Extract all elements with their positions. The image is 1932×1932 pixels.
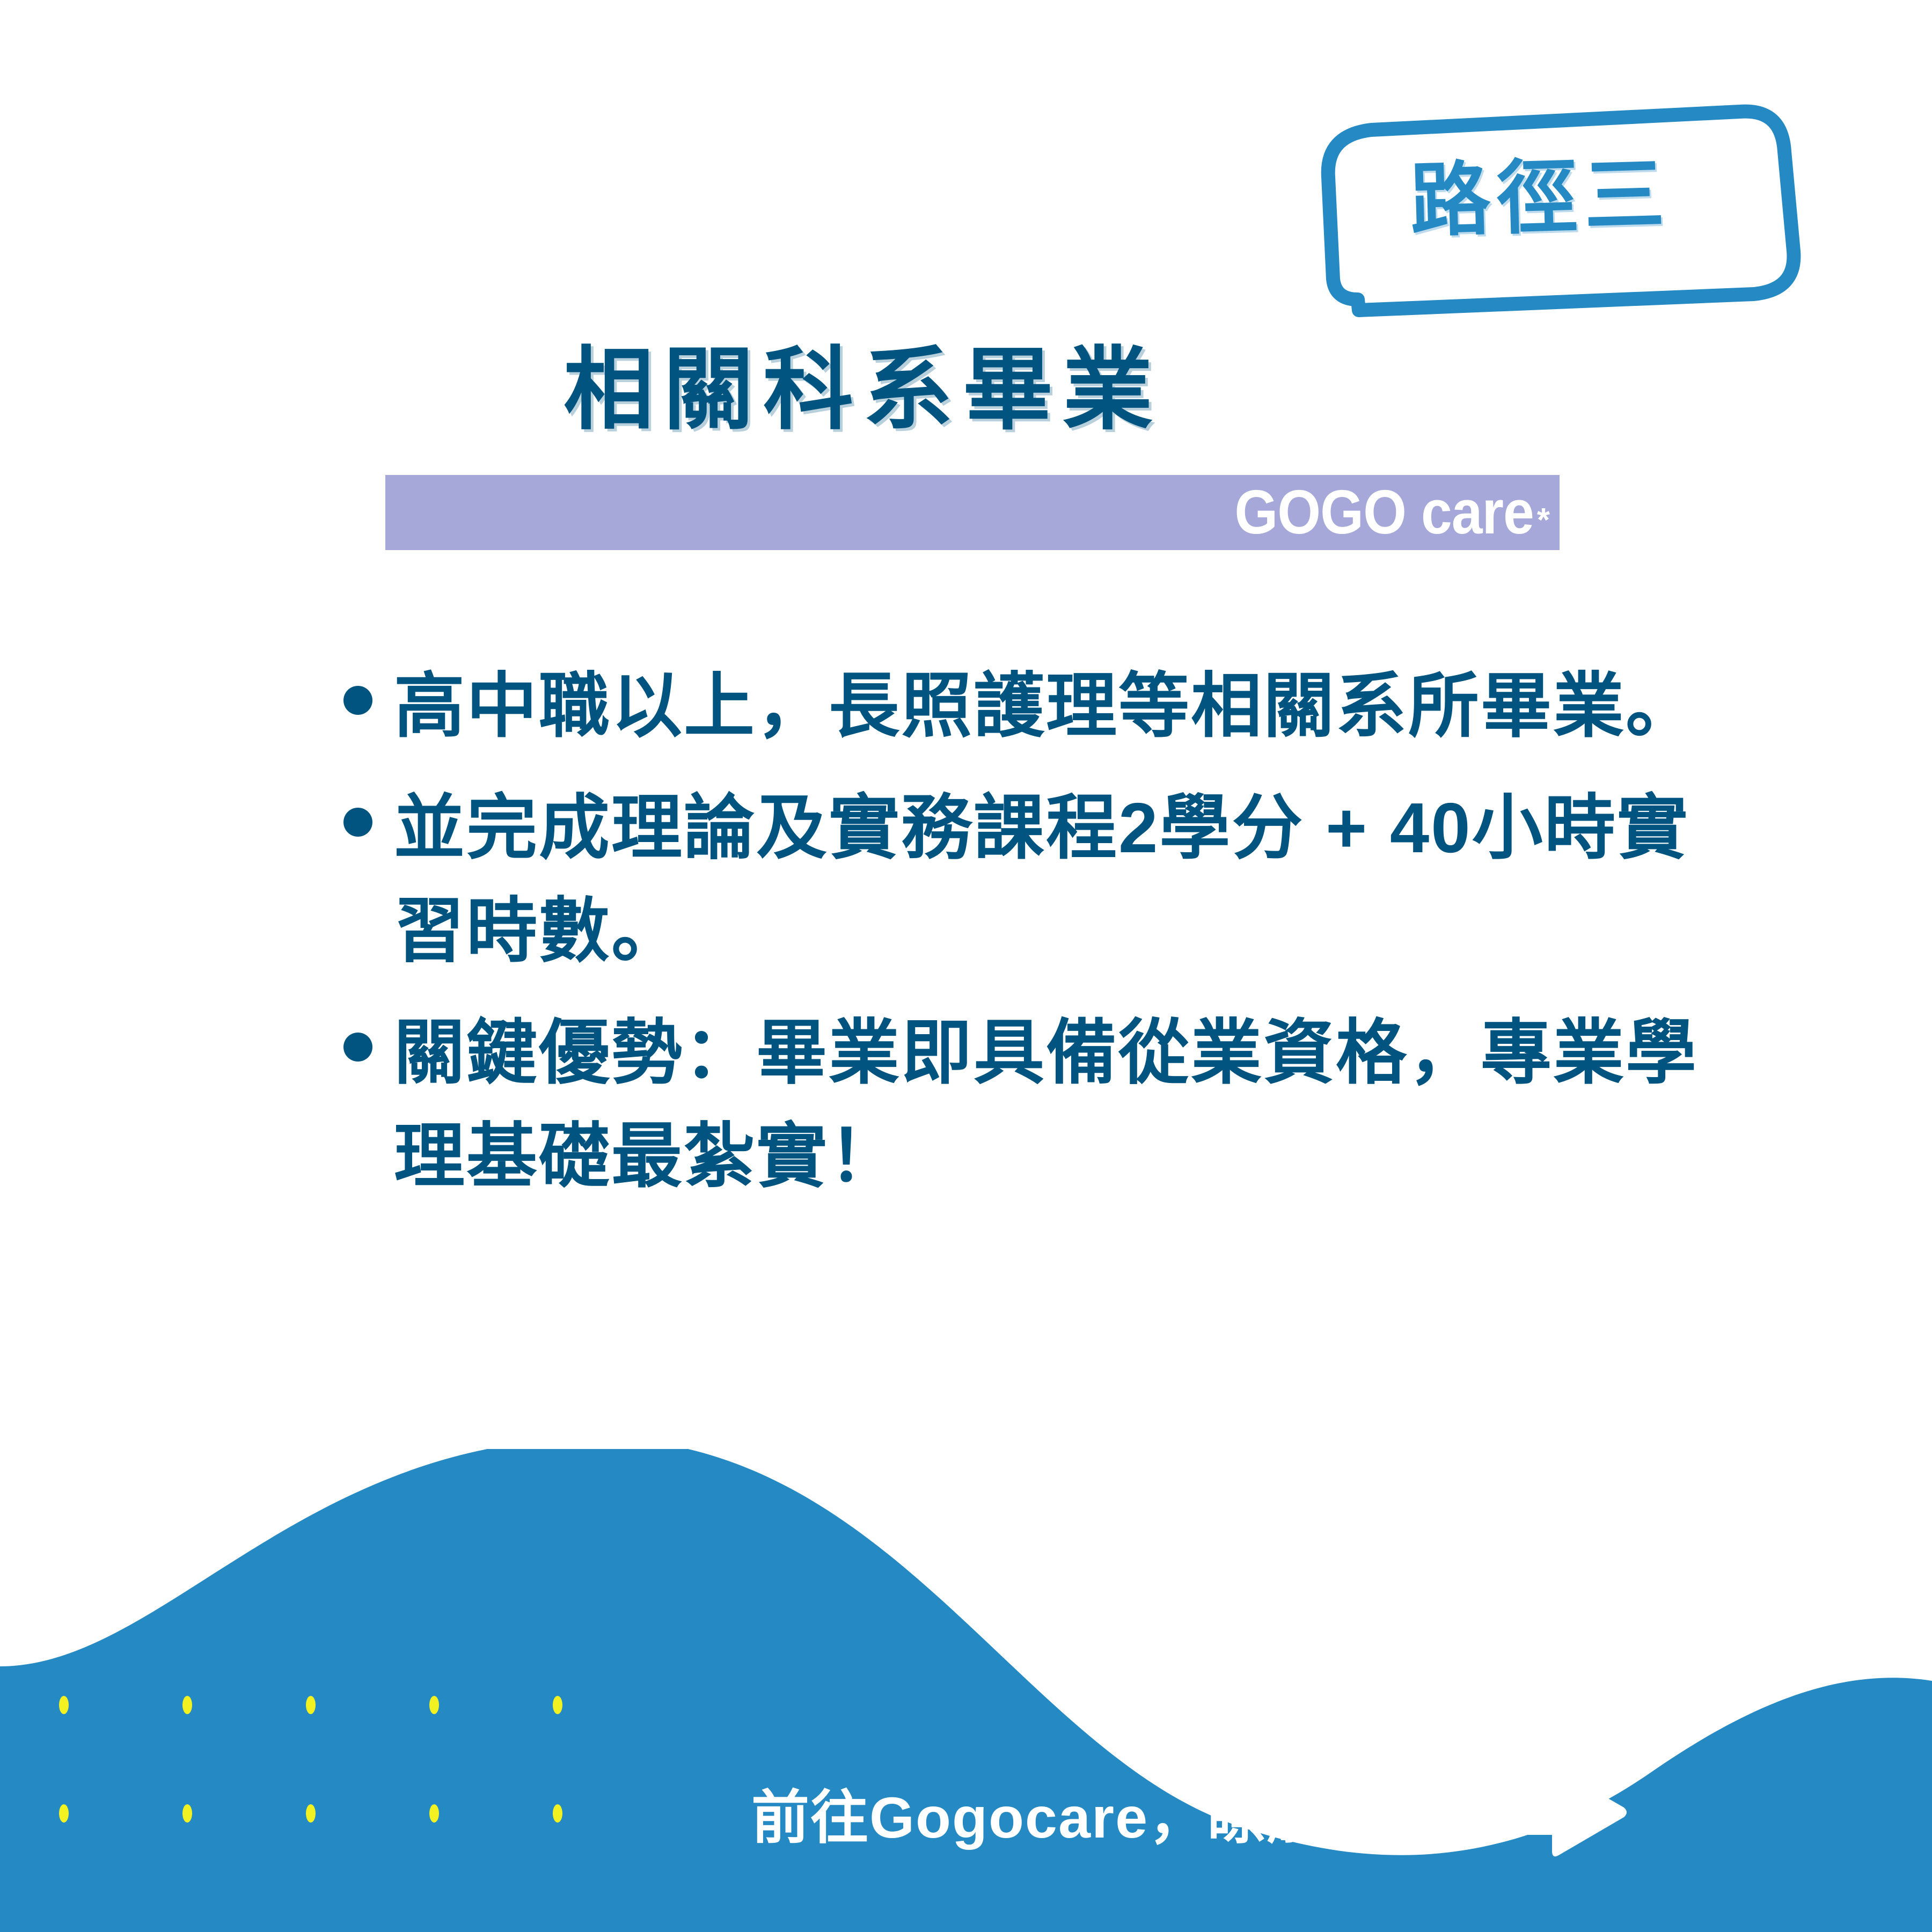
brand-name: GOGO care: [1234, 481, 1533, 544]
list-item: 高中職以上，長照護理等相關系所畢業。: [343, 655, 1717, 758]
list-item: 關鍵優勢：畢業即具備從業資格，專業學理基礎最紮實！: [343, 1001, 1717, 1208]
arrow-right-icon[interactable]: [1473, 1766, 1628, 1860]
list-item: 並完成理論及實務課程2學分 + 40小時實習時數。: [343, 777, 1717, 983]
requirements-list: 高中職以上，長照護理等相關系所畢業。 並完成理論及實務課程2學分 + 40小時實…: [343, 655, 1717, 1227]
list-item-text: 高中職以上，長照護理等相關系所畢業。: [394, 655, 1717, 758]
dot-icon: [306, 1804, 316, 1823]
arrow-right-shape: [1473, 1766, 1628, 1860]
dot-icon: [553, 1804, 562, 1823]
footer-cta-label: 前往Gogocare，瞭解更多: [751, 1771, 1444, 1855]
brand-asterisk-icon: *: [1537, 501, 1550, 539]
list-item-text: 並完成理論及實務課程2學分 + 40小時實習時數。: [394, 777, 1717, 983]
poster-canvas: 路徑三 相關科系畢業 GOGO care * 高中職以上，長照護理等相關系所畢業…: [0, 0, 1932, 1932]
footer-dots: [59, 1696, 596, 1913]
dot-icon: [182, 1804, 192, 1823]
dot-row: [59, 1804, 596, 1823]
dot-icon: [553, 1696, 562, 1714]
dot-icon: [59, 1696, 69, 1714]
bullet-dot-icon: [343, 1033, 372, 1062]
dot-icon: [429, 1804, 439, 1823]
page-title: 相關科系畢業: [563, 317, 1379, 447]
bullet-dot-icon: [343, 686, 372, 715]
footer-cta[interactable]: 前往Gogocare，瞭解更多: [751, 1766, 1814, 1860]
list-item-text: 關鍵優勢：畢業即具備從業資格，專業學理基礎最紮實！: [394, 1001, 1717, 1208]
path-badge: 路徑三: [1277, 102, 1803, 317]
dot-icon: [429, 1696, 439, 1714]
path-badge-label: 路徑三: [1275, 94, 1806, 286]
dot-row: [59, 1696, 596, 1714]
brand-bar: GOGO care *: [385, 475, 1560, 550]
dot-icon: [59, 1804, 69, 1823]
dot-icon: [182, 1696, 192, 1714]
dot-icon: [306, 1696, 316, 1714]
bullet-dot-icon: [343, 808, 372, 837]
